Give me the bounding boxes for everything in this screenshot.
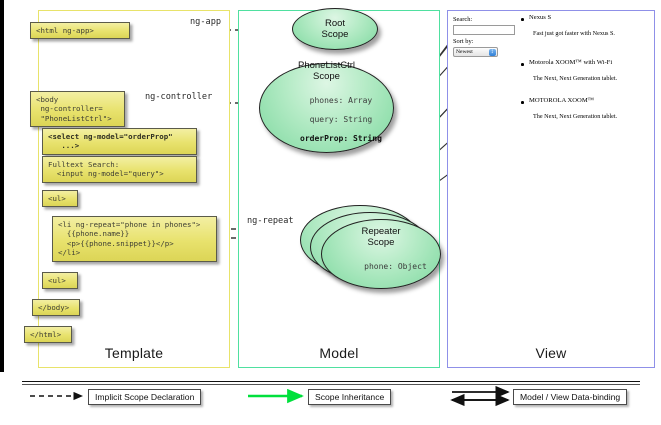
view-phone-snippet-3: The Next, Next Generation tablet.	[533, 113, 617, 120]
view-search-label: Search:	[453, 16, 472, 23]
view-sort-label: Sort by:	[453, 38, 473, 45]
view-phone-snippet-2: The Next, Next Generation tablet.	[533, 75, 617, 82]
phonelistctrl-prop-orderprop: orderProp: String	[300, 134, 382, 143]
phonelistctrl-prop-phones: phones: Array	[310, 96, 373, 105]
repeater-prop-phone: phone: Object	[364, 262, 427, 271]
connector-label-ng-repeat: ng-repeat	[247, 216, 294, 226]
phonelistctrl-scope-title-line1: PhoneListCtrl	[298, 60, 355, 71]
code-box-html-close-tag: </html>	[24, 326, 72, 343]
repeater-scope-title-line1: Repeater	[361, 226, 400, 237]
view-phone-name-2[interactable]: Motorola XOOM™ with Wi-Fi	[529, 59, 612, 66]
column-title-view: View	[447, 345, 655, 361]
root-scope-title-line2: Scope	[322, 29, 349, 40]
view-phone-name-1[interactable]: Nexus S	[529, 14, 551, 21]
phonelistctrl-scope-title-line2: Scope	[313, 71, 340, 82]
list-bullet-1	[521, 18, 524, 21]
view-search-input[interactable]	[453, 25, 515, 35]
view-sort-select-value: Newest	[456, 49, 473, 55]
left-edge-bar	[0, 0, 4, 372]
code-box-li-repeat-tag: <li ng-repeat="phone in phones"> {{phone…	[52, 216, 217, 262]
view-phone-snippet-1: Fast just got faster with Nexus S.	[533, 30, 615, 37]
column-title-template: Template	[38, 345, 230, 361]
phonelistctrl-scope-ellipse: PhoneListCtrl Scope phones: Array query:…	[259, 63, 394, 153]
code-box-ul-open-tag: <ul>	[42, 190, 78, 207]
diagram-canvas: <html ng-app> <body ng-controller= "Phon…	[0, 0, 661, 425]
legend-data-binding: Model / View Data-binding	[513, 389, 627, 405]
legend-divider-top	[22, 381, 640, 382]
view-sort-select[interactable]: Newest	[453, 47, 498, 57]
legend-divider-bottom	[22, 384, 640, 385]
column-title-model: Model	[238, 345, 440, 361]
root-scope-title-line1: Root	[325, 18, 345, 29]
code-box-body-close-tag: </body>	[32, 299, 80, 316]
connector-label-ng-controller: ng-controller	[145, 92, 212, 102]
root-scope-ellipse: Root Scope	[292, 8, 378, 50]
code-box-ul-close-tag: <ul>	[42, 272, 78, 289]
phonelistctrl-prop-query: query: String	[310, 115, 373, 124]
legend-scope-inheritance: Scope Inheritance	[308, 389, 391, 405]
code-box-search-input-tag: Fulltext Search: <input ng-model="query"…	[42, 156, 197, 183]
code-box-html-tag: <html ng-app>	[30, 22, 130, 39]
chevron-updown-icon[interactable]	[489, 49, 496, 56]
view-phone-name-3[interactable]: MOTOROLA XOOM™	[529, 97, 594, 104]
connector-label-ng-app: ng-app	[190, 17, 221, 27]
repeater-scope-title-line2: Scope	[368, 237, 395, 248]
code-box-select-tag: <select ng-model="orderProp" ...>	[42, 128, 197, 155]
list-bullet-2	[521, 63, 524, 66]
legend-implicit-scope-declaration: Implicit Scope Declaration	[88, 389, 201, 405]
list-bullet-3	[521, 101, 524, 104]
code-box-body-tag: <body ng-controller= "PhoneListCtrl">	[30, 91, 125, 127]
repeater-scope-ellipse: Repeater Scope phone: Object	[321, 219, 441, 289]
